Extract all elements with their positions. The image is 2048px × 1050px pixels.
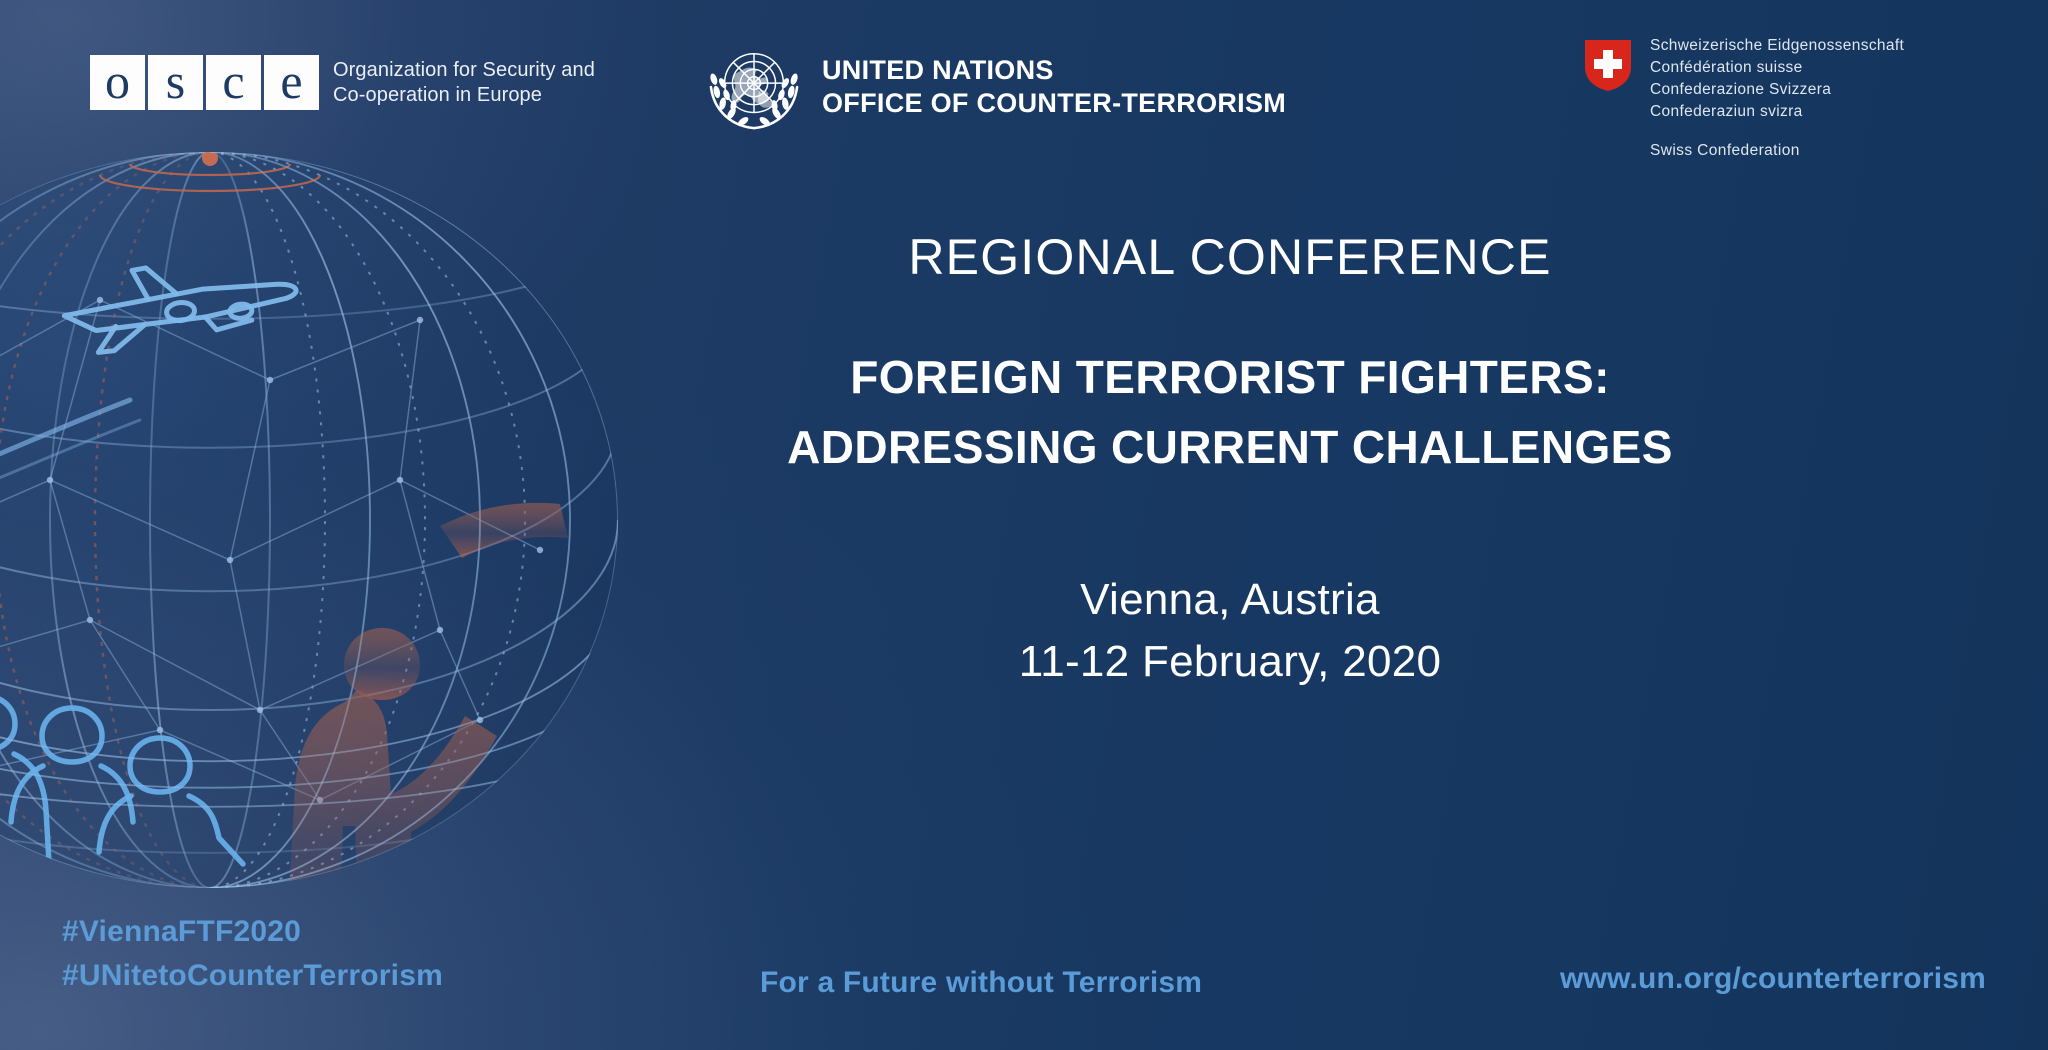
osce-letter-o: o — [90, 55, 145, 110]
swiss-logo-text: Schweizerische Eidgenossenschaft Confédé… — [1650, 35, 1904, 162]
osce-text-line1: Organization for Security and — [333, 58, 595, 82]
conference-banner: o s c e Organization for Security and Co… — [0, 0, 2048, 1050]
swiss-text-spacer — [1650, 123, 1904, 140]
conference-kicker: REGIONAL CONFERENCE — [640, 230, 1820, 285]
airplane-icon — [60, 253, 300, 356]
conference-location: Vienna, Austria — [640, 569, 1820, 631]
highlighted-red-figure — [285, 503, 568, 890]
osce-logo-text: Organization for Security and Co-operati… — [333, 58, 595, 107]
osce-wordmark-icon: o s c e — [90, 55, 319, 110]
conference-title: FOREIGN TERRORIST FIGHTERS: ADDRESSING C… — [640, 343, 1820, 483]
hashtag-vienna-ftf: #ViennaFTF2020 — [62, 910, 443, 954]
main-copy: REGIONAL CONFERENCE FOREIGN TERRORIST FI… — [640, 230, 1820, 694]
osce-letter-s: s — [148, 55, 203, 110]
un-text-line1: UNITED NATIONS — [822, 54, 1286, 87]
osce-letter-c: c — [206, 55, 261, 110]
swiss-text-en: Swiss Confederation — [1650, 140, 1904, 162]
un-emblem-icon — [700, 40, 808, 134]
un-logo-text: UNITED NATIONS OFFICE OF COUNTER-TERRORI… — [822, 54, 1286, 120]
un-text-line2: OFFICE OF COUNTER-TERRORISM — [822, 87, 1286, 120]
un-logo: UNITED NATIONS OFFICE OF COUNTER-TERRORI… — [700, 40, 1286, 134]
swiss-text-de: Schweizerische Eidgenossenschaft — [1650, 35, 1904, 57]
osce-logo: o s c e Organization for Security and Co… — [90, 55, 595, 110]
swiss-shield-icon — [1582, 37, 1634, 93]
logo-row: o s c e Organization for Security and Co… — [0, 0, 2048, 160]
conference-dates: 11-12 February, 2020 — [640, 631, 1820, 693]
tagline: For a Future without Terrorism — [760, 966, 1202, 1000]
hashtag-unite-counter-terrorism: #UNitetoCounterTerrorism — [62, 954, 443, 998]
osce-letter-e: e — [264, 55, 319, 110]
swiss-text-fr: Confédération suisse — [1650, 57, 1904, 79]
swiss-text-it: Confederazione Svizzera — [1650, 79, 1904, 101]
conference-title-line1: FOREIGN TERRORIST FIGHTERS: — [640, 343, 1820, 413]
wireframe-globe — [0, 150, 620, 890]
website-url[interactable]: www.un.org/counterterrorism — [1560, 962, 1986, 996]
conference-title-line2: ADDRESSING CURRENT CHALLENGES — [640, 413, 1820, 483]
conference-details: Vienna, Austria 11-12 February, 2020 — [640, 569, 1820, 694]
swiss-logo: Schweizerische Eidgenossenschaft Confédé… — [1582, 35, 1904, 162]
swiss-text-rm: Confederaziun svizra — [1650, 101, 1904, 123]
hashtag-block: #ViennaFTF2020 #UNitetoCounterTerrorism — [62, 910, 443, 997]
osce-text-line2: Co-operation in Europe — [333, 83, 595, 107]
crowd-figures — [0, 696, 243, 890]
